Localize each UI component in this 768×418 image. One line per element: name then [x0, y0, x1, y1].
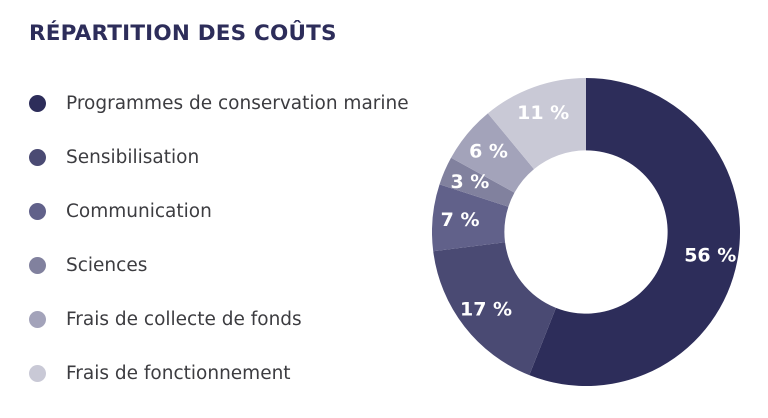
cost-breakdown-infographic: RÉPARTITION DES COÛTS Programmes de cons…	[0, 0, 768, 418]
donut-slice-label: 7 %	[441, 209, 480, 231]
legend-item: Frais de collecte de fonds	[29, 292, 429, 346]
legend-color-dot-icon	[29, 149, 46, 166]
donut-slice-label: 17 %	[460, 299, 512, 321]
legend-item-label: Programmes de conservation marine	[66, 93, 409, 114]
legend-item: Communication	[29, 184, 429, 238]
legend-item-label: Sensibilisation	[66, 147, 199, 168]
legend-item-label: Frais de collecte de fonds	[66, 309, 302, 330]
legend-item: Frais de fonctionnement	[29, 346, 429, 400]
donut-chart: 56 %17 %7 %3 %6 %11 %	[432, 78, 740, 386]
donut-slice-label: 11 %	[517, 102, 569, 124]
legend-item-label: Communication	[66, 201, 212, 222]
legend-item: Sciences	[29, 238, 429, 292]
donut-slice-label: 56 %	[684, 245, 736, 267]
chart-legend: Programmes de conservation marineSensibi…	[29, 76, 429, 400]
donut-chart-svg: 56 %17 %7 %3 %6 %11 %	[432, 78, 740, 386]
legend-color-dot-icon	[29, 365, 46, 382]
legend-color-dot-icon	[29, 203, 46, 220]
legend-color-dot-icon	[29, 311, 46, 328]
donut-slice-label: 3 %	[450, 171, 489, 193]
legend-color-dot-icon	[29, 257, 46, 274]
legend-item-label: Frais de fonctionnement	[66, 363, 291, 384]
donut-slice-label: 6 %	[469, 140, 508, 162]
legend-item: Sensibilisation	[29, 130, 429, 184]
legend-item-label: Sciences	[66, 255, 147, 276]
legend-color-dot-icon	[29, 95, 46, 112]
legend-item: Programmes de conservation marine	[29, 76, 429, 130]
page-title: RÉPARTITION DES COÛTS	[29, 21, 337, 46]
